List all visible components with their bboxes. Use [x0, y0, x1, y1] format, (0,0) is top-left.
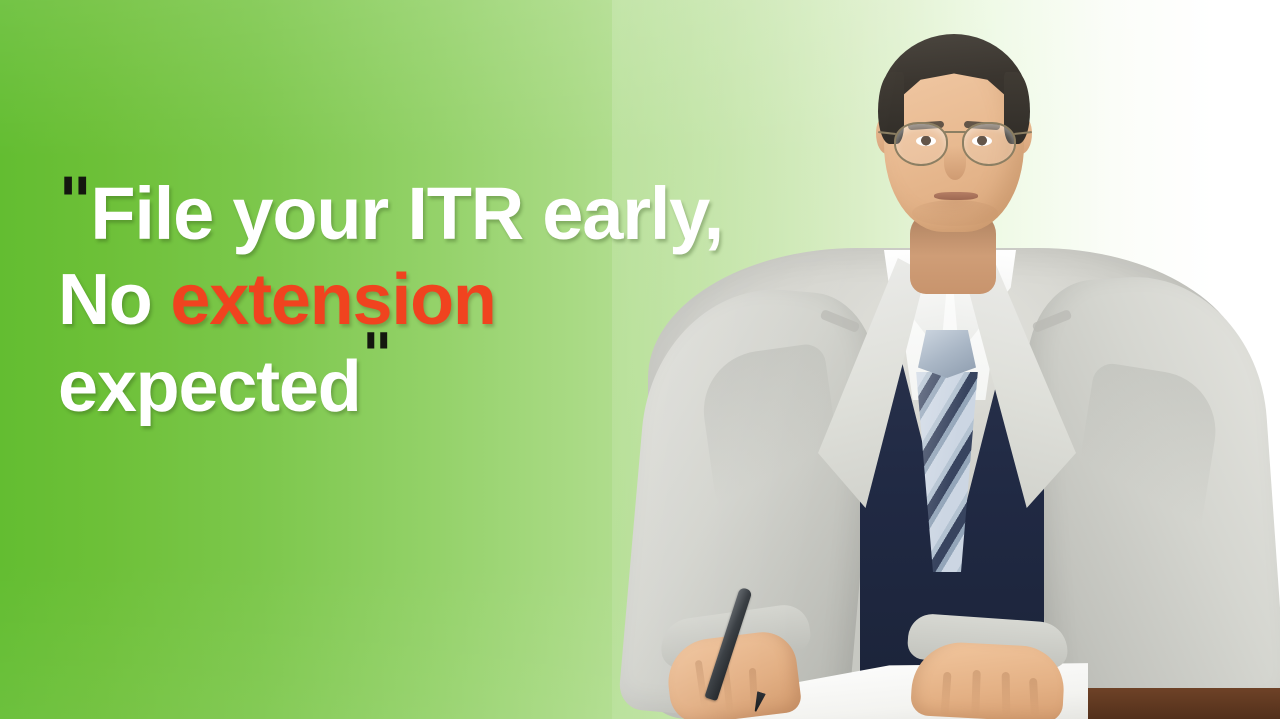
quote-line-3-text: expected — [58, 347, 361, 427]
eyeglass-lens-right — [962, 122, 1016, 166]
mouth — [934, 192, 978, 200]
opening-quote-mark: " — [58, 176, 88, 230]
eyeglass-lens-left — [894, 122, 948, 166]
quote-line-2: No extension — [58, 259, 818, 342]
quote-line-1: "File your ITR early, — [58, 172, 818, 255]
quote-line-3: expected" — [58, 346, 818, 429]
banner-stage: "File your ITR early, No extension expec… — [0, 0, 1280, 719]
hand-right — [910, 640, 1066, 719]
closing-quote-mark: " — [362, 332, 389, 381]
quote-text-block: "File your ITR early, No extension expec… — [58, 172, 818, 429]
chin-shading — [912, 200, 998, 226]
quote-line-2-prefix: No — [58, 260, 170, 340]
quote-line-1-text: File your ITR early, — [90, 172, 723, 255]
finger-right-3 — [1002, 672, 1011, 716]
finger-right-2 — [971, 670, 981, 716]
eyeglass-bridge — [944, 131, 966, 133]
quote-highlight-extension: extension — [170, 260, 495, 340]
nose — [944, 146, 966, 180]
